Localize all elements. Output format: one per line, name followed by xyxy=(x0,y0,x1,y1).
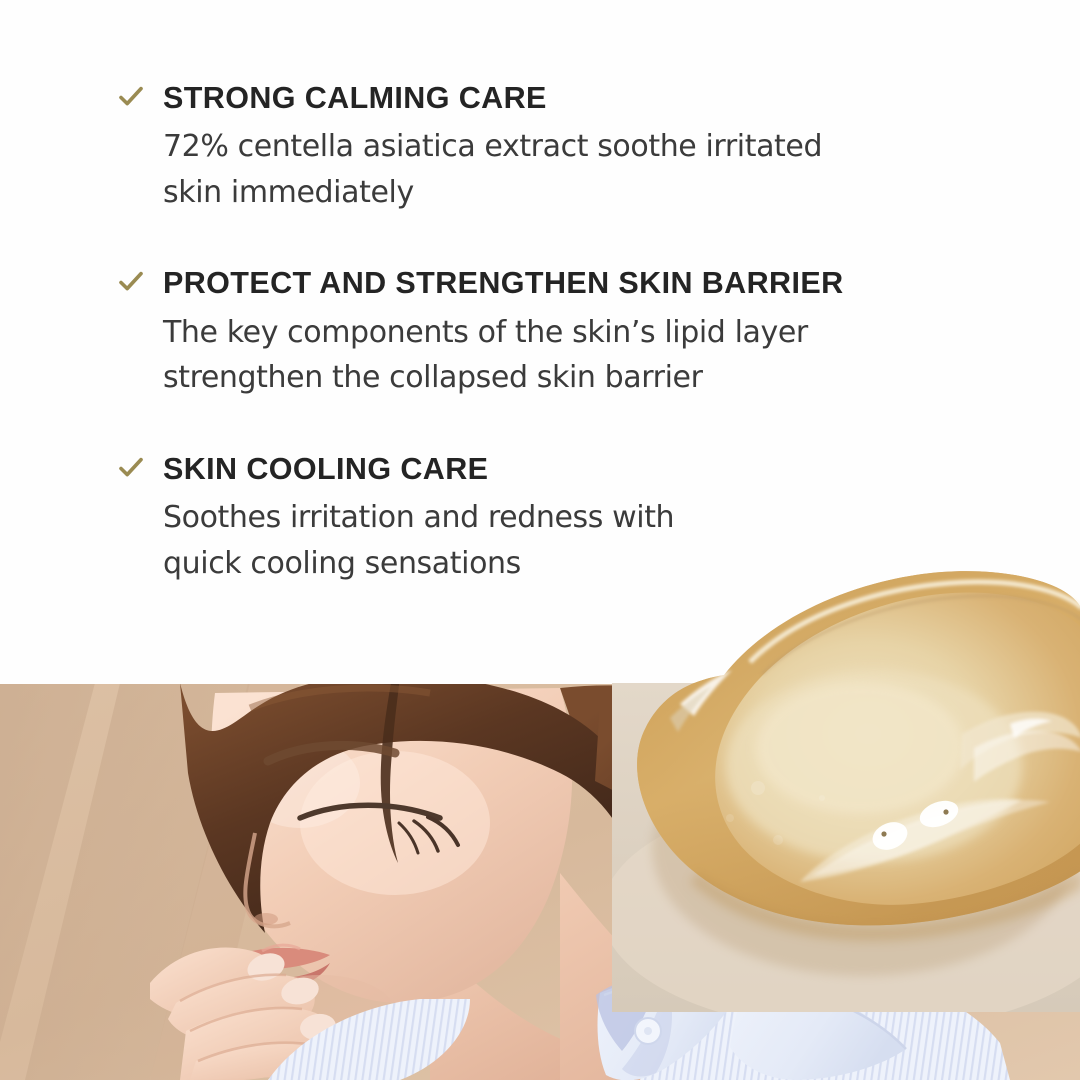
benefit-text: PROTECT AND STRENGTHEN SKIN BARRIER The … xyxy=(118,263,1018,400)
benefits-text-panel: STRONG CALMING CARE 72% centella asiatic… xyxy=(0,0,1080,684)
model-touching-face-photo xyxy=(0,683,1080,1080)
benefit-item: SKIN COOLING CARE Soothes irritation and… xyxy=(118,449,1018,586)
product-benefits-graphic: STRONG CALMING CARE 72% centella asiatic… xyxy=(0,0,1080,1080)
benefit-text: STRONG CALMING CARE 72% centella asiatic… xyxy=(118,78,1018,215)
benefit-description-line: 72% centella asiatica extract soothe irr… xyxy=(163,124,1018,170)
check-icon xyxy=(118,84,144,110)
benefit-title: STRONG CALMING CARE xyxy=(163,78,1018,118)
benefit-title: SKIN COOLING CARE xyxy=(163,449,1018,489)
benefit-description-line: skin immediately xyxy=(163,170,1018,216)
benefit-description-line: strengthen the collapsed skin barrier xyxy=(163,355,1018,401)
benefit-description-line: quick cooling sensations xyxy=(163,541,1018,587)
benefit-description: 72% centella asiatica extract soothe irr… xyxy=(163,124,1018,215)
benefit-item: STRONG CALMING CARE 72% centella asiatic… xyxy=(118,78,1018,215)
benefit-description-line: The key components of the skin’s lipid l… xyxy=(163,310,1018,356)
check-icon xyxy=(118,269,144,295)
benefit-description: The key components of the skin’s lipid l… xyxy=(163,310,1018,401)
benefit-title: PROTECT AND STRENGTHEN SKIN BARRIER xyxy=(163,263,1018,303)
benefit-item: PROTECT AND STRENGTHEN SKIN BARRIER The … xyxy=(118,263,1018,400)
benefit-description: Soothes irritation and redness with quic… xyxy=(163,495,1018,586)
model-photo-section xyxy=(0,683,1080,1080)
benefit-list: STRONG CALMING CARE 72% centella asiatic… xyxy=(118,78,1018,586)
benefit-text: SKIN COOLING CARE Soothes irritation and… xyxy=(118,449,1018,586)
benefit-description-line: Soothes irritation and redness with xyxy=(163,495,1018,541)
check-icon xyxy=(118,455,144,481)
